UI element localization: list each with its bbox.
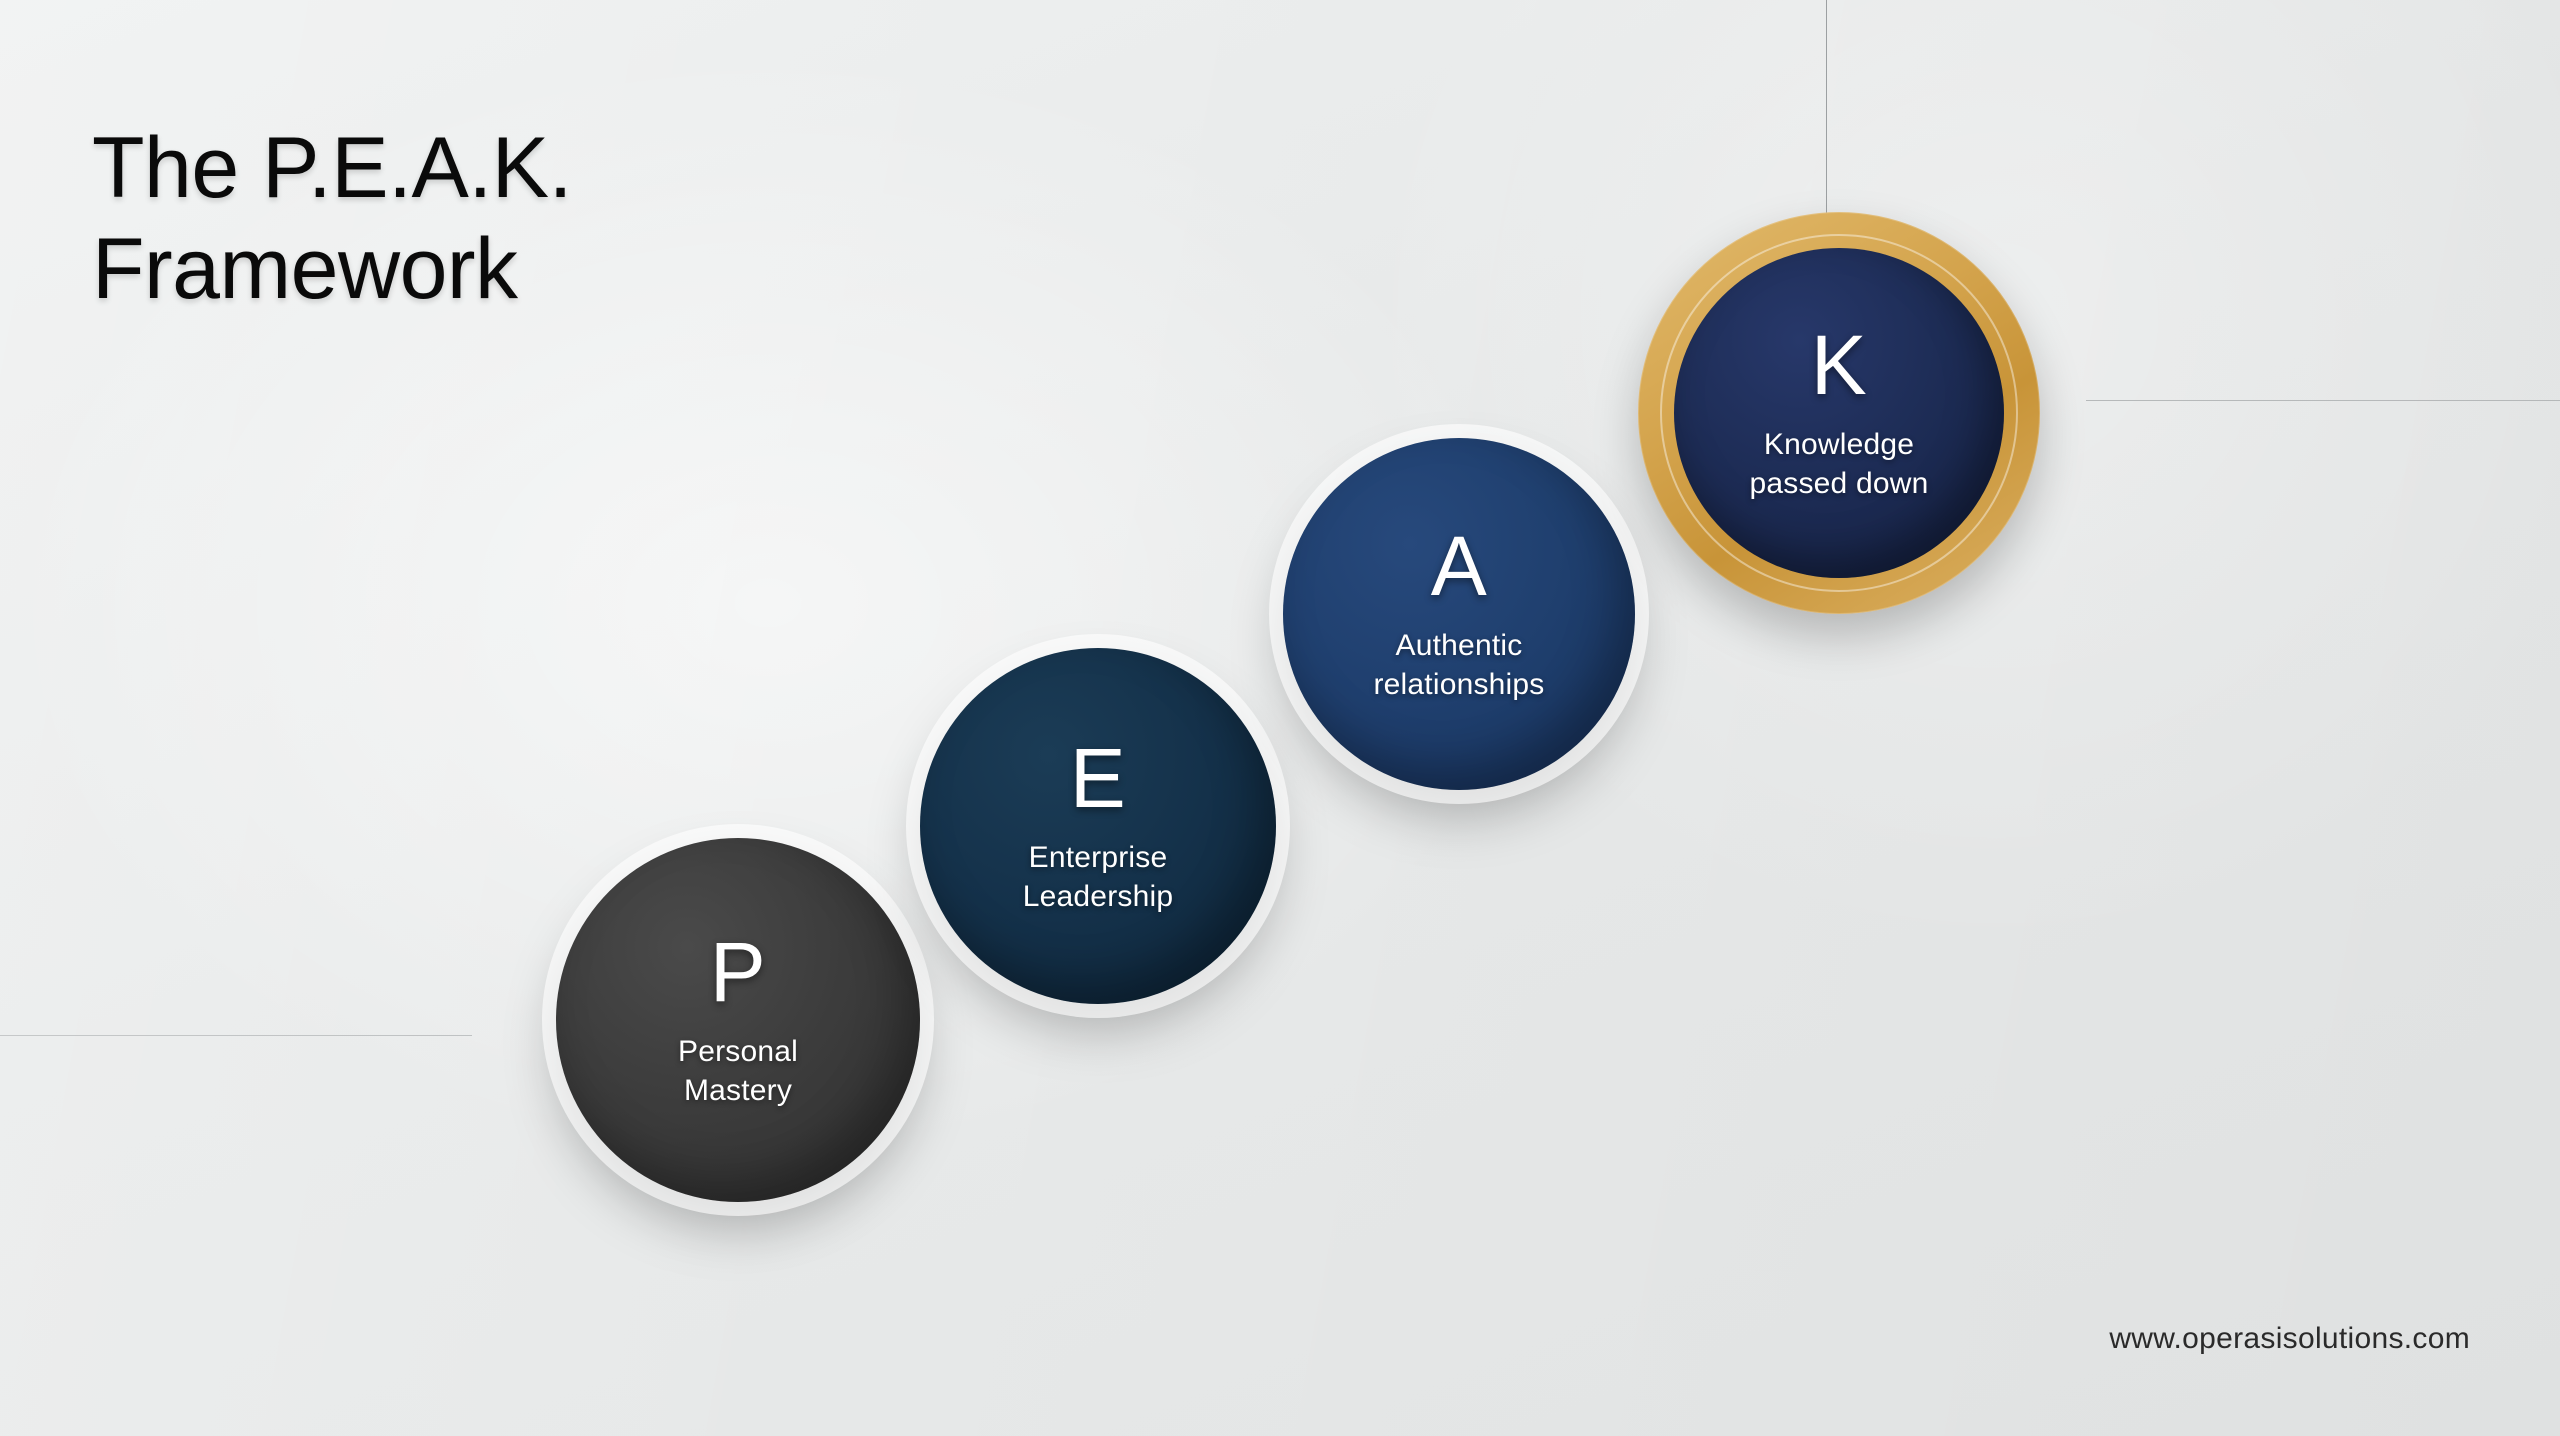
peak-node-letter-a: A <box>1431 524 1488 608</box>
peak-node-personal-mastery[interactable]: P Personal Mastery <box>556 838 920 1202</box>
slide-canvas: The P.E.A.K. Framework P Personal Master… <box>0 0 2560 1436</box>
hairline-top-thread <box>1826 0 1827 214</box>
peak-caption-line-2: passed down <box>1750 467 1929 500</box>
hairline-right <box>2086 400 2560 401</box>
peak-node-letter-e: E <box>1070 736 1127 820</box>
peak-node-caption-p: Personal Mastery <box>678 1032 798 1110</box>
peak-node-letter-p: P <box>710 930 767 1014</box>
peak-node-caption-e: Enterprise Leadership <box>1023 838 1173 916</box>
peak-caption-line-1: Knowledge <box>1764 428 1914 461</box>
peak-node-letter-k: K <box>1811 323 1868 407</box>
peak-caption-line-1: Authentic <box>1396 629 1523 662</box>
page-title-line-2: Framework <box>92 219 852 320</box>
footer-website-url[interactable]: www.operasisolutions.com <box>2109 1322 2470 1356</box>
peak-caption-line-1: Personal <box>678 1035 798 1068</box>
peak-node-caption-k: Knowledge passed down <box>1750 425 1929 503</box>
page-title: The P.E.A.K. Framework <box>92 118 852 321</box>
peak-node-enterprise-leadership[interactable]: E Enterprise Leadership <box>920 648 1276 1004</box>
peak-caption-line-2: Mastery <box>684 1074 792 1107</box>
peak-caption-line-1: Enterprise <box>1029 841 1168 874</box>
page-title-line-1: The P.E.A.K. <box>92 118 852 219</box>
peak-node-caption-a: Authentic relationships <box>1373 626 1544 704</box>
peak-node-authentic-relationships[interactable]: A Authentic relationships <box>1283 438 1635 790</box>
peak-caption-line-2: relationships <box>1373 668 1544 701</box>
peak-node-knowledge-gold-ring: K Knowledge passed down <box>1638 212 2040 614</box>
hairline-left <box>0 1035 472 1036</box>
peak-caption-line-2: Leadership <box>1023 880 1173 913</box>
peak-node-knowledge-passed-down[interactable]: K Knowledge passed down <box>1674 248 2004 578</box>
